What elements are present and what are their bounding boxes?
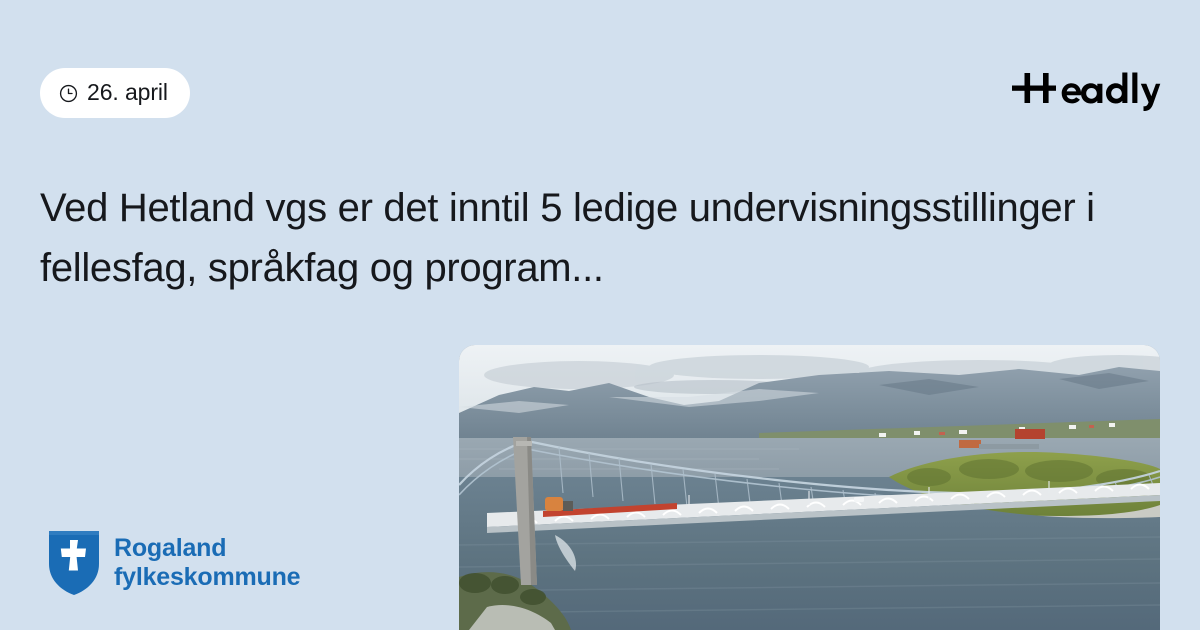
article-image (459, 345, 1160, 630)
shield-cross-icon (48, 530, 100, 596)
article-share-card: 26. april Ved Hetland vgs er de (0, 0, 1200, 630)
municipality-logo: Rogaland fylkeskommune (48, 530, 300, 596)
fjord-bridge-photo (459, 345, 1160, 630)
article-headline: Ved Hetland vgs er det inntil 5 ledige u… (40, 178, 1125, 298)
date-badge: 26. april (40, 68, 190, 118)
headly-logo[interactable] (1012, 63, 1162, 113)
municipality-name-line2: fylkeskommune (114, 563, 300, 592)
municipality-name-line1: Rogaland (114, 534, 300, 563)
headly-wordmark-icon (1012, 65, 1162, 111)
clock-icon (59, 84, 78, 103)
date-label: 26. april (87, 81, 168, 106)
